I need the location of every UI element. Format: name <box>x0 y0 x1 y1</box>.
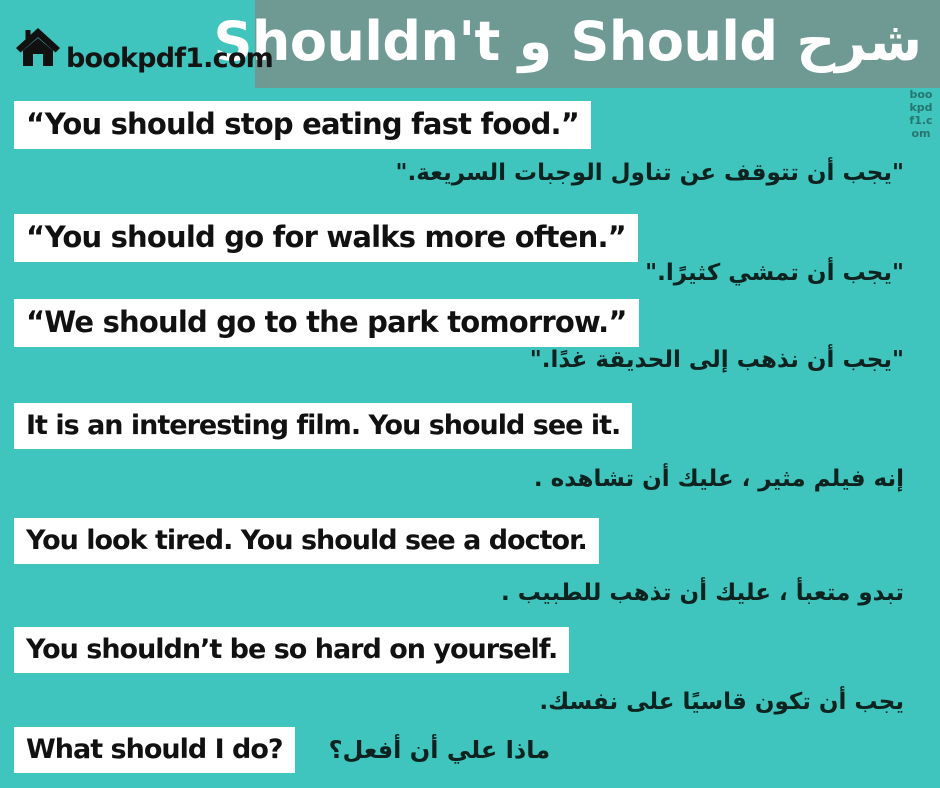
english-sentence: “We should go to the park tomorrow.” <box>14 299 639 347</box>
example-row-6-english: You shouldn’t be so hard on yourself. <box>0 627 569 673</box>
example-row-4-english: It is an interesting film. You should se… <box>0 403 632 449</box>
english-sentence: You look tired. You should see a doctor. <box>14 518 599 564</box>
english-sentence: It is an interesting film. You should se… <box>14 403 632 449</box>
example-row-3-english: “We should go to the park tomorrow.” <box>0 299 639 347</box>
example-row-7-arabic: ماذا علي أن أفعل؟ <box>329 736 551 764</box>
example-row-1-arabic: "يجب أن تتوقف عن تناول الوجبات السريعة." <box>0 162 940 185</box>
example-row-5-english: You look tired. You should see a doctor. <box>0 518 599 564</box>
example-row-7: What should I do? ماذا علي أن أفعل؟ <box>0 727 940 773</box>
home-icon <box>12 21 64 73</box>
example-row-3-arabic: "يجب أن نذهب إلى الحديقة غدًا." <box>0 349 940 372</box>
english-sentence: You shouldn’t be so hard on yourself. <box>14 627 569 673</box>
example-row-4-arabic: إنه فيلم مثير ، عليك أن تشاهده . <box>0 468 940 491</box>
brand-name: bookpdf1.com <box>66 43 273 78</box>
english-sentence: What should I do? <box>14 727 295 773</box>
example-row-6-arabic: يجب أن تكون قاسيًا على نفسك. <box>0 691 940 714</box>
page-header: شرح Should و Shouldn't bookpdf1.com <box>0 0 940 90</box>
brand-logo: bookpdf1.com <box>12 16 273 78</box>
english-sentence: “You should stop eating fast food.” <box>14 101 591 149</box>
page-title: شرح Should و Shouldn't <box>255 0 930 88</box>
example-row-5-arabic: تبدو متعبأ ، عليك أن تذهب للطبيب . <box>0 582 940 605</box>
examples-list: “You should stop eating fast food.” "يجب… <box>0 90 940 788</box>
example-row-2-arabic: "يجب أن تمشي كثيرًا." <box>0 262 940 285</box>
example-row-2-english: “You should go for walks more often.” <box>0 214 638 262</box>
english-sentence: “You should go for walks more often.” <box>14 214 638 262</box>
example-row-1-english: “You should stop eating fast food.” <box>0 101 591 149</box>
